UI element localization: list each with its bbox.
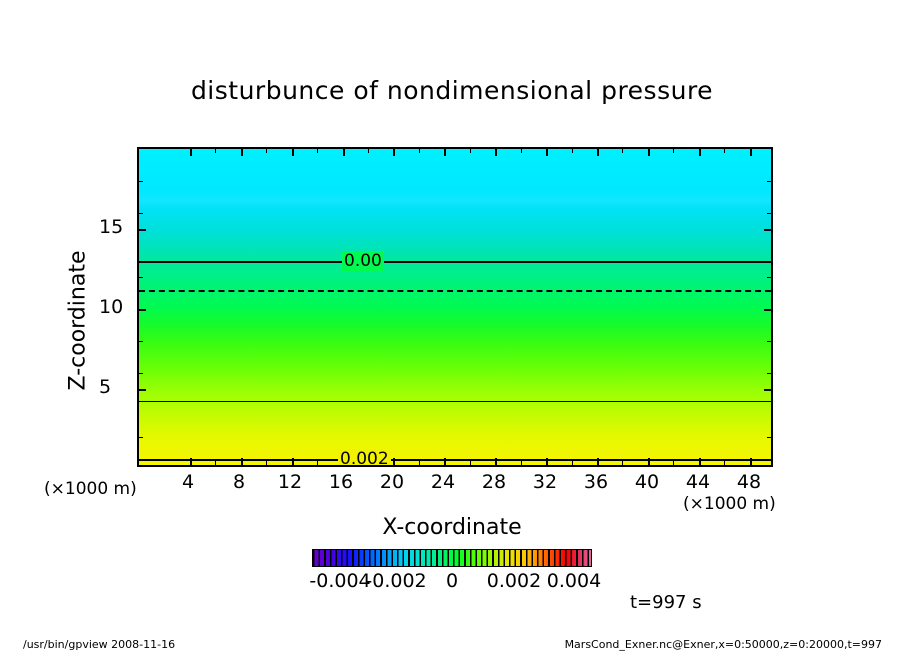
x-tick-top-minor-42: [673, 149, 674, 153]
x-tick-top-minor-34: [572, 149, 573, 153]
contour-label-0.00-text: 0.00: [342, 251, 384, 271]
x-tick-label-40: 40: [635, 471, 659, 493]
x-tick-minor-14: [317, 461, 318, 465]
colorbar-tick-label-0: 0: [446, 570, 458, 592]
x-tick-top-20: [393, 149, 395, 156]
x-tick-minor-10: [266, 461, 267, 465]
x-tick-minor-26: [470, 461, 471, 465]
y-tick-10: [139, 309, 146, 311]
y-tick-right-minor-2: [767, 437, 771, 438]
x-tick-4: [190, 458, 192, 465]
x-tick-24: [444, 458, 446, 465]
x-tick-top-12: [292, 149, 294, 156]
y-tick-minor-2: [139, 437, 143, 438]
colorbar-gradient: [312, 549, 592, 567]
colorbar-tick-label--0.004: -0.004: [309, 570, 370, 592]
x-tick-label-20: 20: [380, 471, 404, 493]
x-tick-label-28: 28: [482, 471, 506, 493]
x-tick-top-36: [597, 149, 599, 156]
x-tick-12: [292, 458, 294, 465]
x-tick-top-32: [546, 149, 548, 156]
y-tick-right-minor-6: [767, 373, 771, 374]
time-annotation: t=997 s: [630, 592, 702, 613]
contour-line-0.002: [139, 459, 771, 461]
x-tick-top-44: [699, 149, 701, 156]
colorbar-tick-label--0.002: -0.002: [365, 570, 426, 592]
y-tick-15: [139, 229, 146, 231]
x-tick-label-24: 24: [431, 471, 455, 493]
x-tick-top-minor-22: [419, 149, 420, 153]
contour-line-0.001: [139, 401, 771, 402]
x-tick-44: [699, 458, 701, 465]
x-tick-top-minor-6: [215, 149, 216, 153]
x-tick-minor-42: [673, 461, 674, 465]
x-tick-top-16: [343, 149, 345, 156]
y-tick-right-minor-8: [767, 341, 771, 342]
x-tick-label-48: 48: [737, 471, 761, 493]
y-axis-title: Z-coordinate: [66, 221, 91, 421]
x-tick-minor-30: [521, 461, 522, 465]
x-tick-top-4: [190, 149, 192, 156]
x-tick-label-32: 32: [533, 471, 557, 493]
x-tick-28: [495, 458, 497, 465]
x-tick-20: [393, 458, 395, 465]
page-title: disturbunce of nondimensional pressure: [0, 76, 904, 105]
y-tick-minor-12: [139, 277, 143, 278]
x-tick-top-minor-26: [470, 149, 471, 153]
y-tick-minor-16: [139, 213, 143, 214]
footer-command-info: /usr/bin/gpview 2008-11-16: [23, 638, 175, 651]
x-tick-label-4: 4: [182, 471, 194, 493]
x-tick-minor-46: [724, 461, 725, 465]
x-tick-minor-22: [419, 461, 420, 465]
y-tick-label-10: 10: [99, 296, 123, 318]
x-unit-label-left: (×1000 m): [44, 479, 137, 499]
y-tick-right-minor-16: [767, 213, 771, 214]
x-axis-title: X-coordinate: [0, 515, 904, 540]
colorbar-tick-label-0.002: 0.002: [487, 570, 541, 592]
y-tick-right-minor-18: [767, 181, 771, 182]
contour-line-0.00: [139, 261, 771, 263]
x-unit-label-right: (×1000 m): [683, 494, 776, 514]
x-tick-minor-34: [572, 461, 573, 465]
y-tick-right-minor-12: [767, 277, 771, 278]
y-tick-minor-6: [139, 373, 143, 374]
contour-label-0.002: 0.002: [338, 451, 391, 467]
x-tick-top-8: [241, 149, 243, 156]
x-tick-top-minor-10: [266, 149, 267, 153]
contour-label-0.00: 0.00: [342, 253, 384, 270]
y-tick-right-10: [764, 309, 771, 311]
x-tick-top-48: [750, 149, 752, 156]
x-tick-label-8: 8: [233, 471, 245, 493]
y-tick-label-5: 5: [99, 376, 111, 398]
y-tick-5: [139, 389, 146, 391]
y-tick-minor-8: [139, 341, 143, 342]
x-tick-48: [750, 458, 752, 465]
x-tick-label-44: 44: [686, 471, 710, 493]
x-tick-minor-38: [622, 461, 623, 465]
x-tick-top-minor-38: [622, 149, 623, 153]
x-tick-minor-6: [215, 461, 216, 465]
y-tick-right-5: [764, 389, 771, 391]
x-tick-top-40: [648, 149, 650, 156]
x-tick-label-16: 16: [329, 471, 353, 493]
y-tick-right-15: [764, 229, 771, 231]
x-tick-label-36: 36: [584, 471, 608, 493]
y-tick-label-15: 15: [99, 216, 123, 238]
x-tick-top-minor-18: [368, 149, 369, 153]
x-tick-top-minor-14: [317, 149, 318, 153]
plot-area: 0.00 0.002: [137, 147, 773, 467]
x-tick-top-28: [495, 149, 497, 156]
x-tick-36: [597, 458, 599, 465]
x-tick-40: [648, 458, 650, 465]
x-tick-top-minor-46: [724, 149, 725, 153]
contour-label-0.002-text: 0.002: [338, 449, 391, 467]
contour-line--0.001: [139, 290, 771, 292]
x-tick-8: [241, 458, 243, 465]
colorbar: [312, 549, 592, 567]
footer-dataset-info: MarsCond_Exner.nc@Exner,x=0:50000,z=0:20…: [565, 638, 882, 651]
y-tick-minor-18: [139, 181, 143, 182]
pressure-field-heatmap: [139, 149, 771, 465]
x-tick-top-24: [444, 149, 446, 156]
colorbar-tick-label-0.004: 0.004: [547, 570, 601, 592]
x-tick-top-minor-30: [521, 149, 522, 153]
x-tick-32: [546, 458, 548, 465]
x-tick-label-12: 12: [278, 471, 302, 493]
